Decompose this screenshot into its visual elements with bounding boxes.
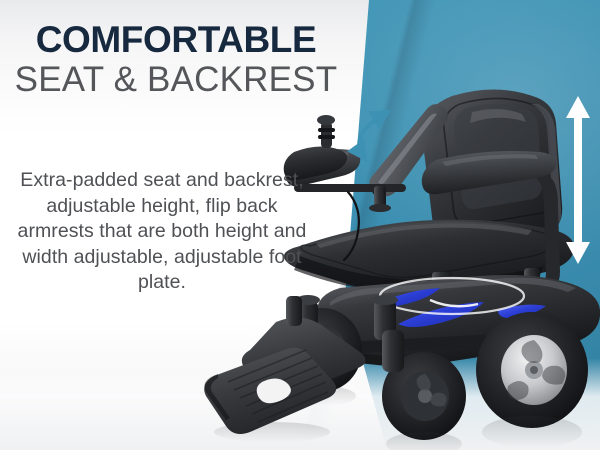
page-title: COMFORTABLE xyxy=(0,20,352,60)
drive-wheel-hub-cap xyxy=(530,366,538,374)
caster-right-fork xyxy=(382,330,404,372)
armrest-stem-foot xyxy=(369,204,391,212)
frame-post-cap xyxy=(372,295,398,305)
text-column: COMFORTABLE SEAT & BACKREST Extra-padded… xyxy=(0,0,360,450)
feature-description: Extra-padded seat and backrest, adjustab… xyxy=(12,168,312,296)
product-feature-banner: COMFORTABLE SEAT & BACKREST Extra-padded… xyxy=(0,0,600,450)
rear-drive-wheel xyxy=(476,312,588,428)
caster-right-hub xyxy=(418,389,432,403)
page-subtitle: SEAT & BACKREST xyxy=(0,61,352,99)
reflection-caster-right xyxy=(386,432,462,450)
reflection-drive-wheel xyxy=(482,416,582,448)
